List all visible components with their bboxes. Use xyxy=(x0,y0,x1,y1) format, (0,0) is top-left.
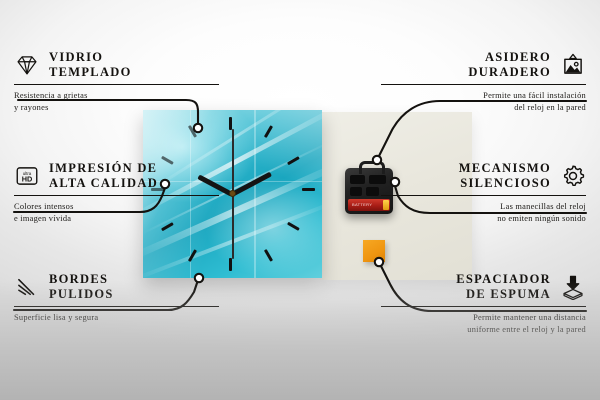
wire-dot-asidero xyxy=(373,156,381,164)
ultra-hd-icon: ultra HD xyxy=(14,163,40,189)
diamond-icon xyxy=(14,52,40,78)
gear-icon xyxy=(560,163,586,189)
feature-vidrio-templado: VIDRIO TEMPLADO Resistencia a grietas y … xyxy=(14,50,219,114)
picture-hanger-icon xyxy=(560,52,586,78)
feature-title: ESPACIADOR DE ESPUMA xyxy=(456,272,551,302)
feature-description: Permite mantener una distancia uniforme … xyxy=(381,312,586,336)
feature-asidero-duradero: ASIDERO DURADERO Permite una fácil insta… xyxy=(381,50,586,114)
feature-divider xyxy=(381,195,586,196)
feature-description: Colores intensos e imagen vívida xyxy=(14,201,219,225)
feature-divider xyxy=(381,306,586,307)
feature-title: MECANISMO SILENCIOSO xyxy=(459,161,551,191)
feature-impresion-alta-calidad: ultra HD IMPRESIÓN DE ALTA CALIDAD Color… xyxy=(14,161,219,225)
foam-spacer-icon xyxy=(560,274,586,300)
svg-text:HD: HD xyxy=(22,174,33,183)
feature-divider xyxy=(14,195,219,196)
feature-title: IMPRESIÓN DE ALTA CALIDAD xyxy=(49,161,158,191)
feature-description: Resistencia a grietas y rayones xyxy=(14,90,219,114)
feature-title: VIDRIO TEMPLADO xyxy=(49,50,132,80)
feature-espaciador-de-espuma: ESPACIADOR DE ESPUMA Permite mantener un… xyxy=(381,272,586,336)
feature-divider xyxy=(381,84,586,85)
feature-divider xyxy=(14,84,219,85)
feature-description: Permite una fácil instalación del reloj … xyxy=(381,90,586,114)
infographic-canvas: BATTERY xyxy=(0,0,600,400)
feature-title: BORDES PULIDOS xyxy=(49,272,114,302)
feature-bordes-pulidos: BORDES PULIDOS Superficie lisa y segura xyxy=(14,272,219,324)
wire-dot-espaciador xyxy=(375,258,383,266)
feature-title: ASIDERO DURADERO xyxy=(468,50,551,80)
feature-description: Las manecillas del reloj no emiten ningú… xyxy=(381,201,586,225)
wire-dot-vidrio-templado xyxy=(194,124,202,132)
feature-description: Superficie lisa y segura xyxy=(14,312,219,324)
feature-divider xyxy=(14,306,219,307)
feature-mecanismo-silencioso: MECANISMO SILENCIOSO Las manecillas del … xyxy=(381,161,586,225)
polished-edges-icon xyxy=(14,274,40,300)
